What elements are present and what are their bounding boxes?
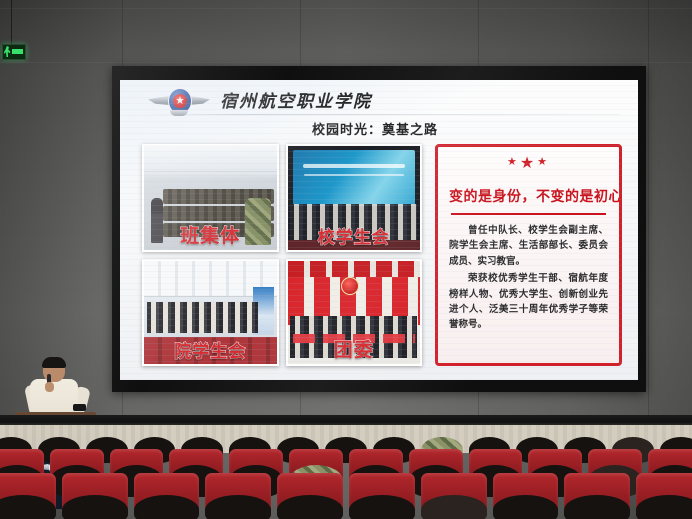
slide-body: 班集体 校学生会 院学生会 <box>142 144 622 366</box>
audience-area <box>0 415 692 519</box>
photo-youth-league-committee: 团委 <box>286 259 423 367</box>
photo-caption-class-collective: 班集体 <box>180 221 240 248</box>
star-small-left: ★ <box>507 156 520 168</box>
stars-decoration: ★★★ <box>449 156 608 172</box>
info-panel-paragraph-1: 曾任中队长、校学生会副主席、院学生会主席、生活部部长、委员会成员、实习教官。 <box>449 223 608 269</box>
exit-sign-rod <box>11 0 12 45</box>
audience-heads-row-3 <box>0 495 692 519</box>
photo-caption-college-student-union: 院学生会 <box>174 337 246 362</box>
handheld-device <box>73 404 86 411</box>
slide-header: 宿州航空职业学院 校园时光：奠基之路 <box>120 80 638 142</box>
screenshot-root: 宿州航空职业学院 校园时光：奠基之路 班集体 <box>0 0 692 519</box>
slide-subtitle: 校园时光：奠基之路 <box>312 119 438 138</box>
projection-screen: 宿州航空职业学院 校园时光：奠基之路 班集体 <box>112 66 646 392</box>
emergency-exit-sign-icon <box>2 44 26 60</box>
info-panel: ★★★ 变的是身份，不变的是初心！ 曾任中队长、校学生会副主席、院学生会主席、生… <box>435 144 622 366</box>
photo-grid: 班集体 校学生会 院学生会 <box>142 144 422 366</box>
photo-caption-youth-league-committee: 团委 <box>334 335 374 362</box>
info-panel-divider <box>451 213 606 215</box>
star-large-center: ★ <box>520 155 537 172</box>
photo-college-student-union: 院学生会 <box>142 259 279 367</box>
header-divider <box>144 114 620 115</box>
info-panel-title: 变的是身份，不变的是初心！ <box>449 186 608 206</box>
presentation-slide: 宿州航空职业学院 校园时光：奠基之路 班集体 <box>120 80 638 380</box>
star-small-right: ★ <box>537 156 550 168</box>
photo-school-student-union: 校学生会 <box>286 144 423 252</box>
school-name: 宿州航空职业学院 <box>220 87 372 112</box>
info-panel-paragraph-2: 荣获校优秀学生干部、宿航年度榜样人物、优秀大学生、创新创业先进个人、泛美三十周年… <box>449 271 608 333</box>
photo-class-collective: 班集体 <box>142 144 279 252</box>
school-wing-emblem-icon <box>148 86 210 116</box>
photo-caption-school-student-union: 校学生会 <box>318 223 390 248</box>
